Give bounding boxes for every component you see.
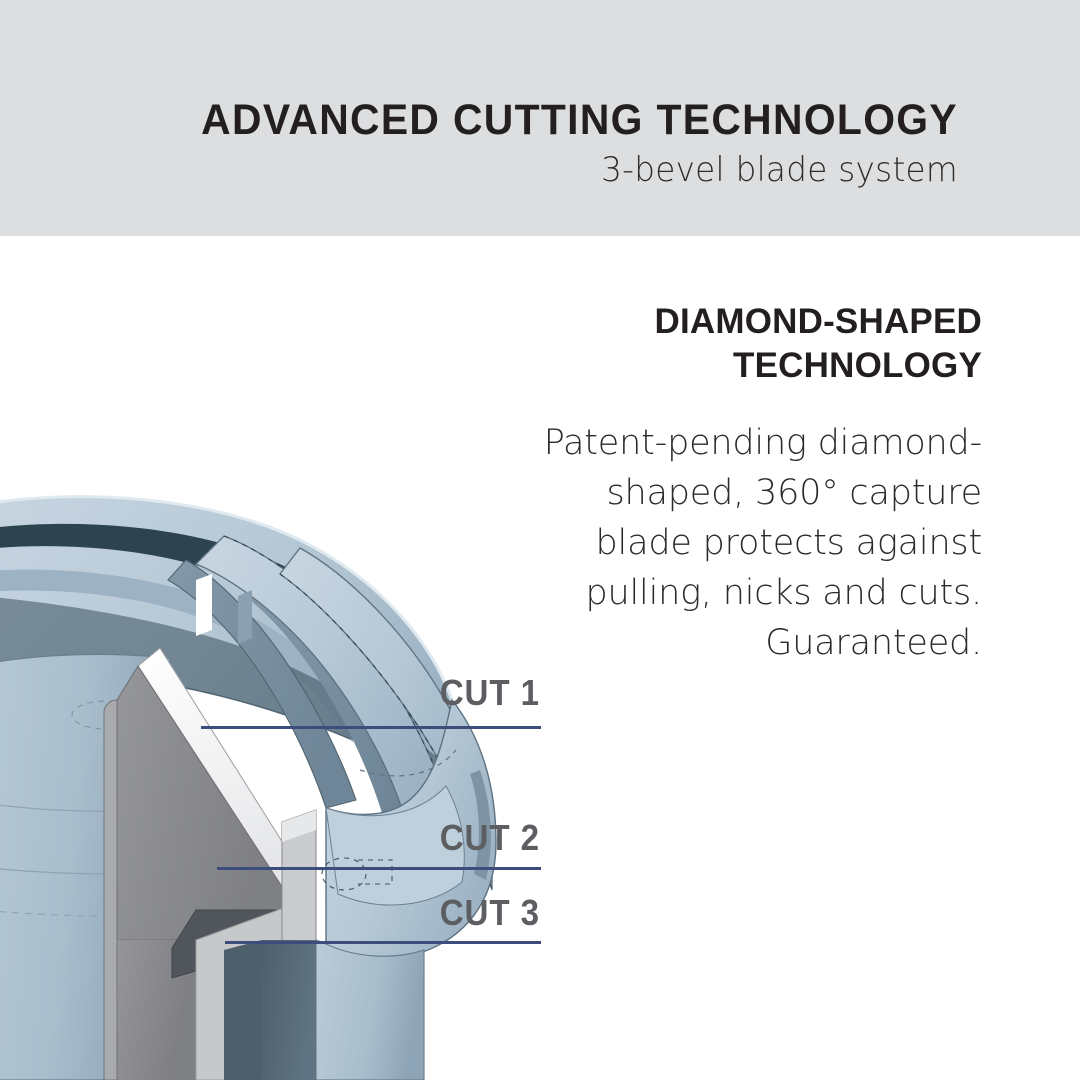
feature-heading: DIAMOND-SHAPED TECHNOLOGY [512,300,982,388]
notch-gap-mid [238,590,252,644]
callout-rule-cut-1 [201,726,541,729]
feature-heading-line-2: TECHNOLOGY [733,346,982,385]
page-title: ADVANCED CUTTING TECHNOLOGY [48,96,958,145]
callout-rule-cut-3 [225,941,541,944]
lower-skirt-shadow [224,940,262,1080]
header-band: ADVANCED CUTTING TECHNOLOGY 3-bevel blad… [0,0,1080,236]
lower-skirt-right [316,940,424,1080]
notch-gap-upper [196,574,212,636]
callout-label-cut-3: CUT 3 [356,892,540,934]
page-subtitle: 3-bevel blade system [38,150,958,190]
callout-rule-cut-2 [217,867,541,870]
callout-label-cut-2: CUT 2 [356,817,540,859]
lower-skirt-dark [262,940,316,1080]
feature-copy-block: DIAMOND-SHAPED TECHNOLOGY Patent-pending… [512,300,982,668]
feature-heading-line-1: DIAMOND-SHAPED [654,302,982,341]
callout-label-cut-1: CUT 1 [356,672,540,714]
feature-body-text: Patent-pending diamond-shaped, 360° capt… [512,418,982,668]
blade-left-edge [104,700,117,1080]
